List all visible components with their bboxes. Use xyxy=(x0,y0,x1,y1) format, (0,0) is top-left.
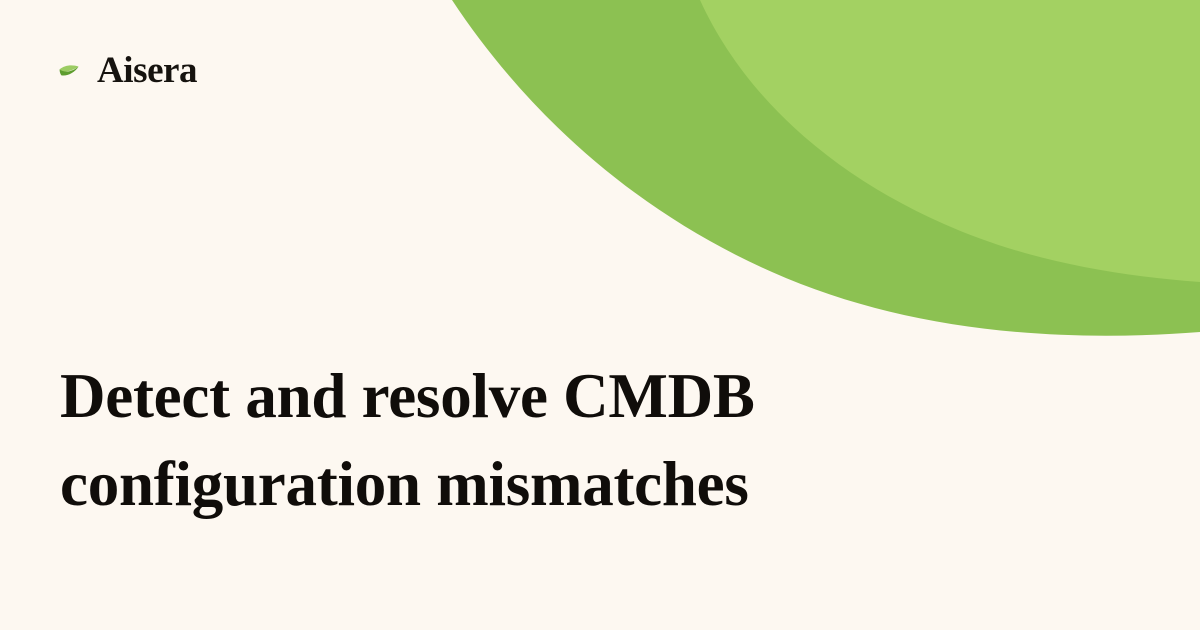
brand-logo[interactable]: Aisera xyxy=(58,52,197,89)
social-share-card: Aisera Detect and resolve CMDB configura… xyxy=(0,0,1200,630)
headline-line-1: Detect and resolve CMDB xyxy=(60,352,960,440)
brand-name: Aisera xyxy=(97,52,197,89)
page-title: Detect and resolve CMDB configuration mi… xyxy=(60,352,960,528)
green-blob-front xyxy=(700,0,1200,282)
green-blob-back xyxy=(452,0,1200,336)
decorative-background xyxy=(0,0,1200,630)
leaf-icon xyxy=(58,59,88,89)
headline-line-2: configuration mismatches xyxy=(60,440,960,528)
